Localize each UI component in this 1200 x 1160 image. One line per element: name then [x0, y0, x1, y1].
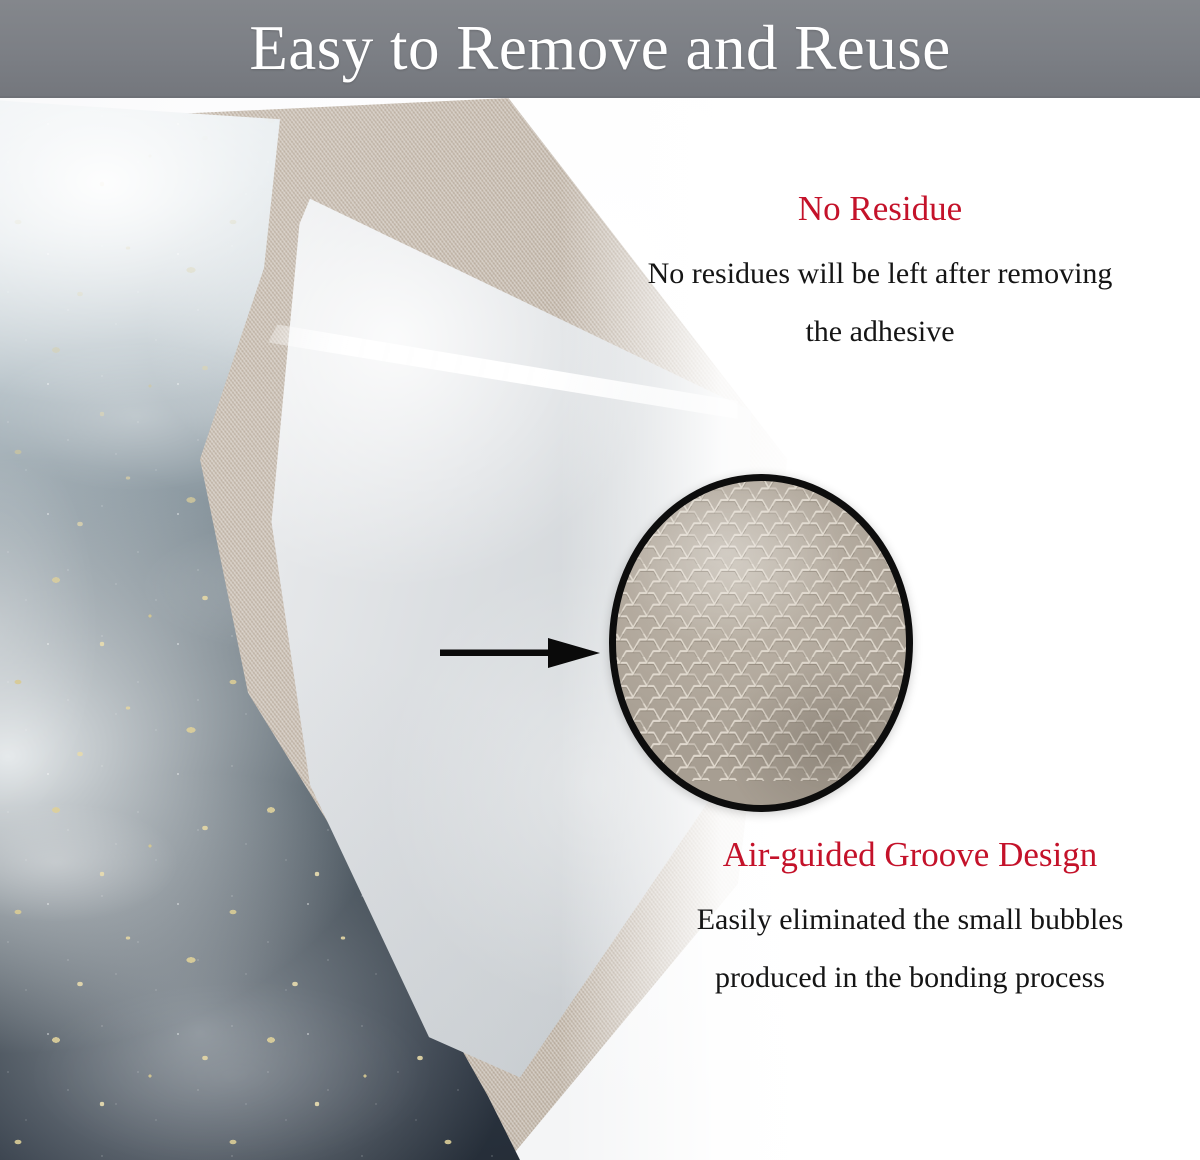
feature-body-air-guided-groove: Easily eliminated the small bubbles prod… — [620, 891, 1200, 1008]
feature-heading-no-residue: No Residue — [560, 190, 1200, 229]
arrow-right-icon — [440, 636, 600, 670]
groove-texture-pattern — [609, 474, 913, 781]
infographic-page: Easy to Remove and Reuse — [0, 0, 1200, 1160]
feature-body-line: Easily eliminated the small bubbles — [620, 891, 1200, 950]
feature-body-line: the adhesive — [560, 303, 1200, 362]
header-banner: Easy to Remove and Reuse — [0, 0, 1200, 98]
page-title: Easy to Remove and Reuse — [249, 17, 950, 80]
feature-heading-air-guided-groove: Air-guided Groove Design — [620, 836, 1200, 875]
feature-air-guided-groove: Air-guided Groove Design Easily eliminat… — [620, 836, 1200, 1008]
feature-body-line: produced in the bonding process — [620, 949, 1200, 1008]
magnifier-circle — [609, 474, 913, 812]
feature-body-no-residue: No residues will be left after removing … — [560, 245, 1200, 362]
feature-body-line: No residues will be left after removing — [560, 245, 1200, 304]
feature-no-residue: No Residue No residues will be left afte… — [560, 190, 1200, 362]
